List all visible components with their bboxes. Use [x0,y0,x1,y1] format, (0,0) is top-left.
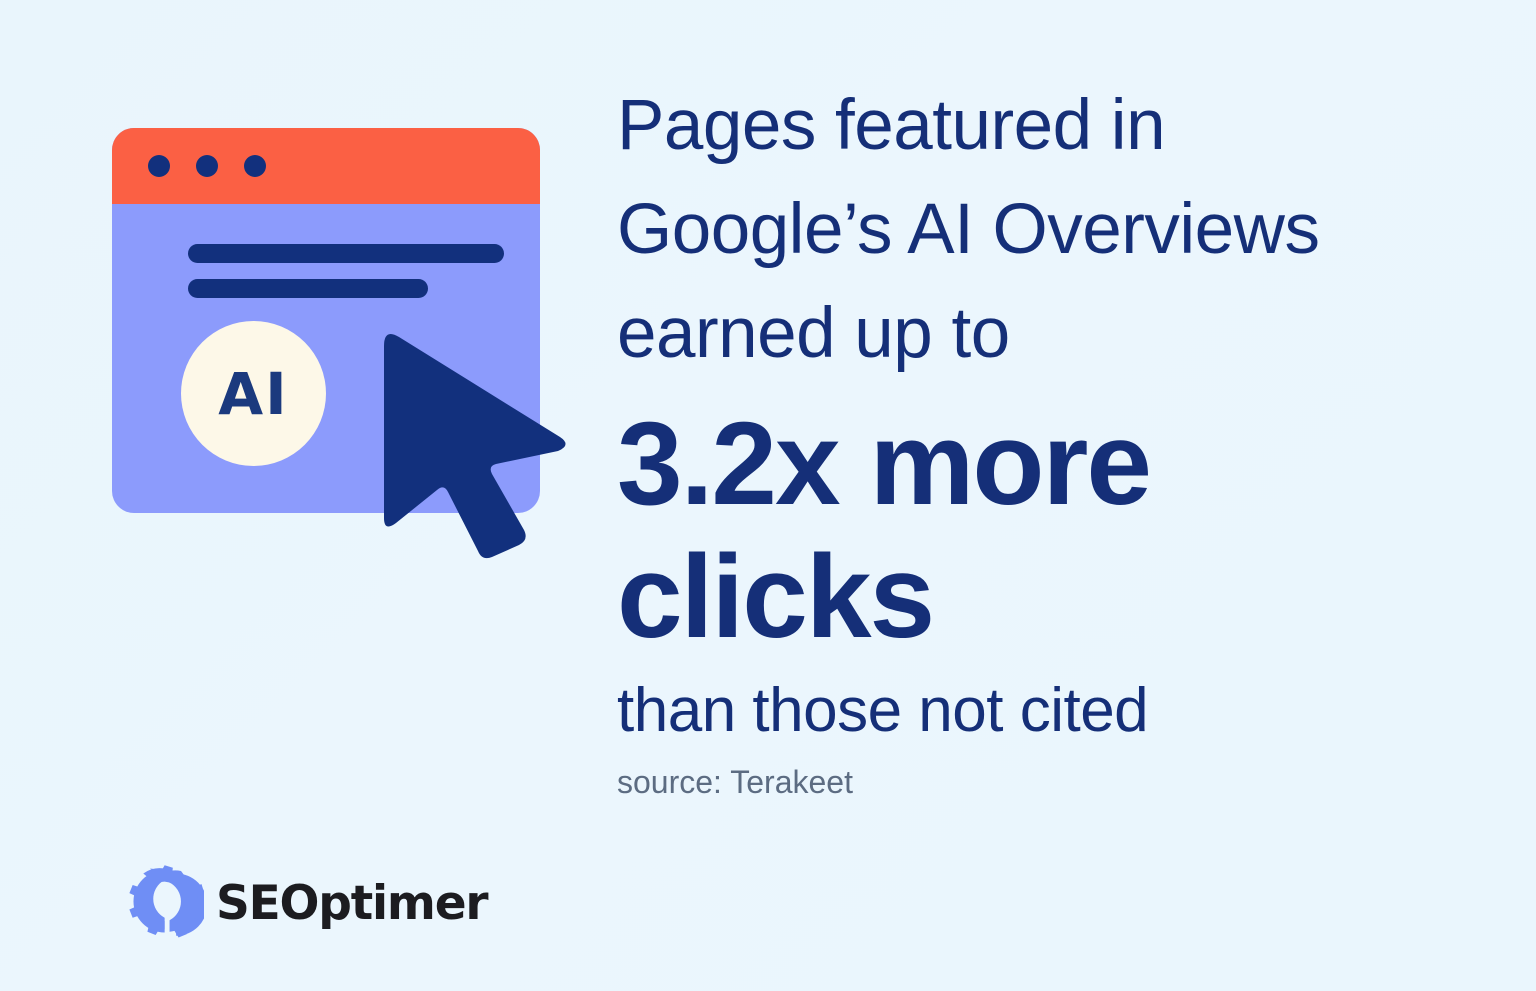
ai-badge: AI [181,321,326,466]
mouse-cursor-arrow-icon [374,324,574,559]
ai-overview-illustration: AI [112,128,542,548]
source-attribution: source: Terakeet [617,762,1447,802]
browser-titlebar [112,128,540,204]
stat-subline: than those not cited [617,674,1447,748]
window-dot-2-icon [196,155,218,177]
ai-badge-label: AI [218,365,288,423]
infographic-canvas: AI Pages featured in Google’s AI Overvie… [0,0,1536,991]
seoptimer-gears-icon [122,862,204,944]
stat-text-column: Pages featured in Google’s AI Overviews … [617,74,1447,802]
headline-line-3: earned up to [617,282,1447,386]
seoptimer-logo[interactable]: SEOptimer [122,862,487,944]
big-stat-line-2: clicks [617,531,1447,664]
content-bar-long [188,244,504,263]
headline-line-1: Pages featured in [617,74,1447,178]
headline-line-2: Google’s AI Overviews [617,178,1447,282]
content-bar-short [188,279,428,298]
window-dot-3-icon [244,155,266,177]
seoptimer-wordmark: SEOptimer [216,880,487,927]
window-dot-1-icon [148,155,170,177]
big-stat-line-1: 3.2x more [617,398,1447,531]
